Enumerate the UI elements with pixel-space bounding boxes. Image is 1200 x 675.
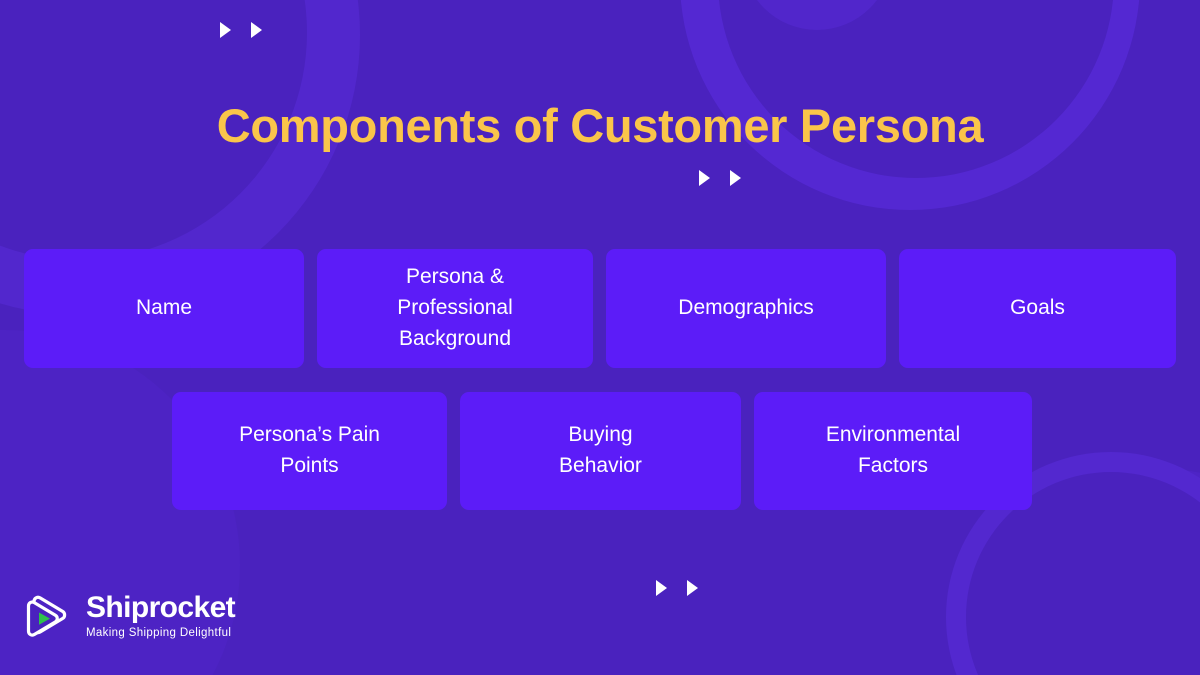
page-title: Components of Customer Persona [0, 99, 1200, 153]
caret-group-top [220, 22, 262, 38]
component-card-label: Name [136, 293, 192, 324]
component-card[interactable]: Persona & Professional Background [317, 249, 593, 368]
caret-right-icon [730, 170, 741, 186]
caret-right-icon [656, 580, 667, 596]
caret-right-icon [220, 22, 231, 38]
caret-group-bottom [656, 580, 698, 596]
caret-right-icon [251, 22, 262, 38]
component-card[interactable]: Goals [899, 249, 1176, 368]
shiprocket-logo-text: Shiprocket Making Shipping Delightful [86, 593, 235, 640]
decor-circle-top-right [742, 0, 892, 30]
component-card-label: Demographics [678, 293, 813, 324]
shiprocket-wordmark: Shiprocket [86, 593, 235, 623]
caret-right-icon [699, 170, 710, 186]
component-card-label: Environmental Factors [826, 420, 960, 482]
shiprocket-logo: Shiprocket Making Shipping Delightful [24, 590, 235, 642]
caret-right-icon [687, 580, 698, 596]
component-row-2: Persona’s Pain Points Buying Behavior En… [172, 392, 1032, 510]
component-card[interactable]: Persona’s Pain Points [172, 392, 447, 510]
slide-canvas: Components of Customer Persona Name Pers… [0, 0, 1200, 675]
component-card-label: Persona’s Pain Points [239, 420, 380, 482]
component-row-1: Name Persona & Professional Background D… [24, 249, 1176, 368]
shiprocket-play-logo-icon [24, 590, 76, 642]
component-card[interactable]: Demographics [606, 249, 886, 368]
caret-group-middle [699, 170, 741, 186]
component-card-label: Buying Behavior [559, 420, 642, 482]
component-card[interactable]: Environmental Factors [754, 392, 1032, 510]
component-card-label: Persona & Professional Background [397, 262, 513, 355]
component-card-label: Goals [1010, 293, 1065, 324]
decor-circle-bottom-right [1060, 470, 1200, 675]
shiprocket-tagline: Making Shipping Delightful [86, 628, 235, 640]
component-card[interactable]: Name [24, 249, 304, 368]
component-card[interactable]: Buying Behavior [460, 392, 741, 510]
